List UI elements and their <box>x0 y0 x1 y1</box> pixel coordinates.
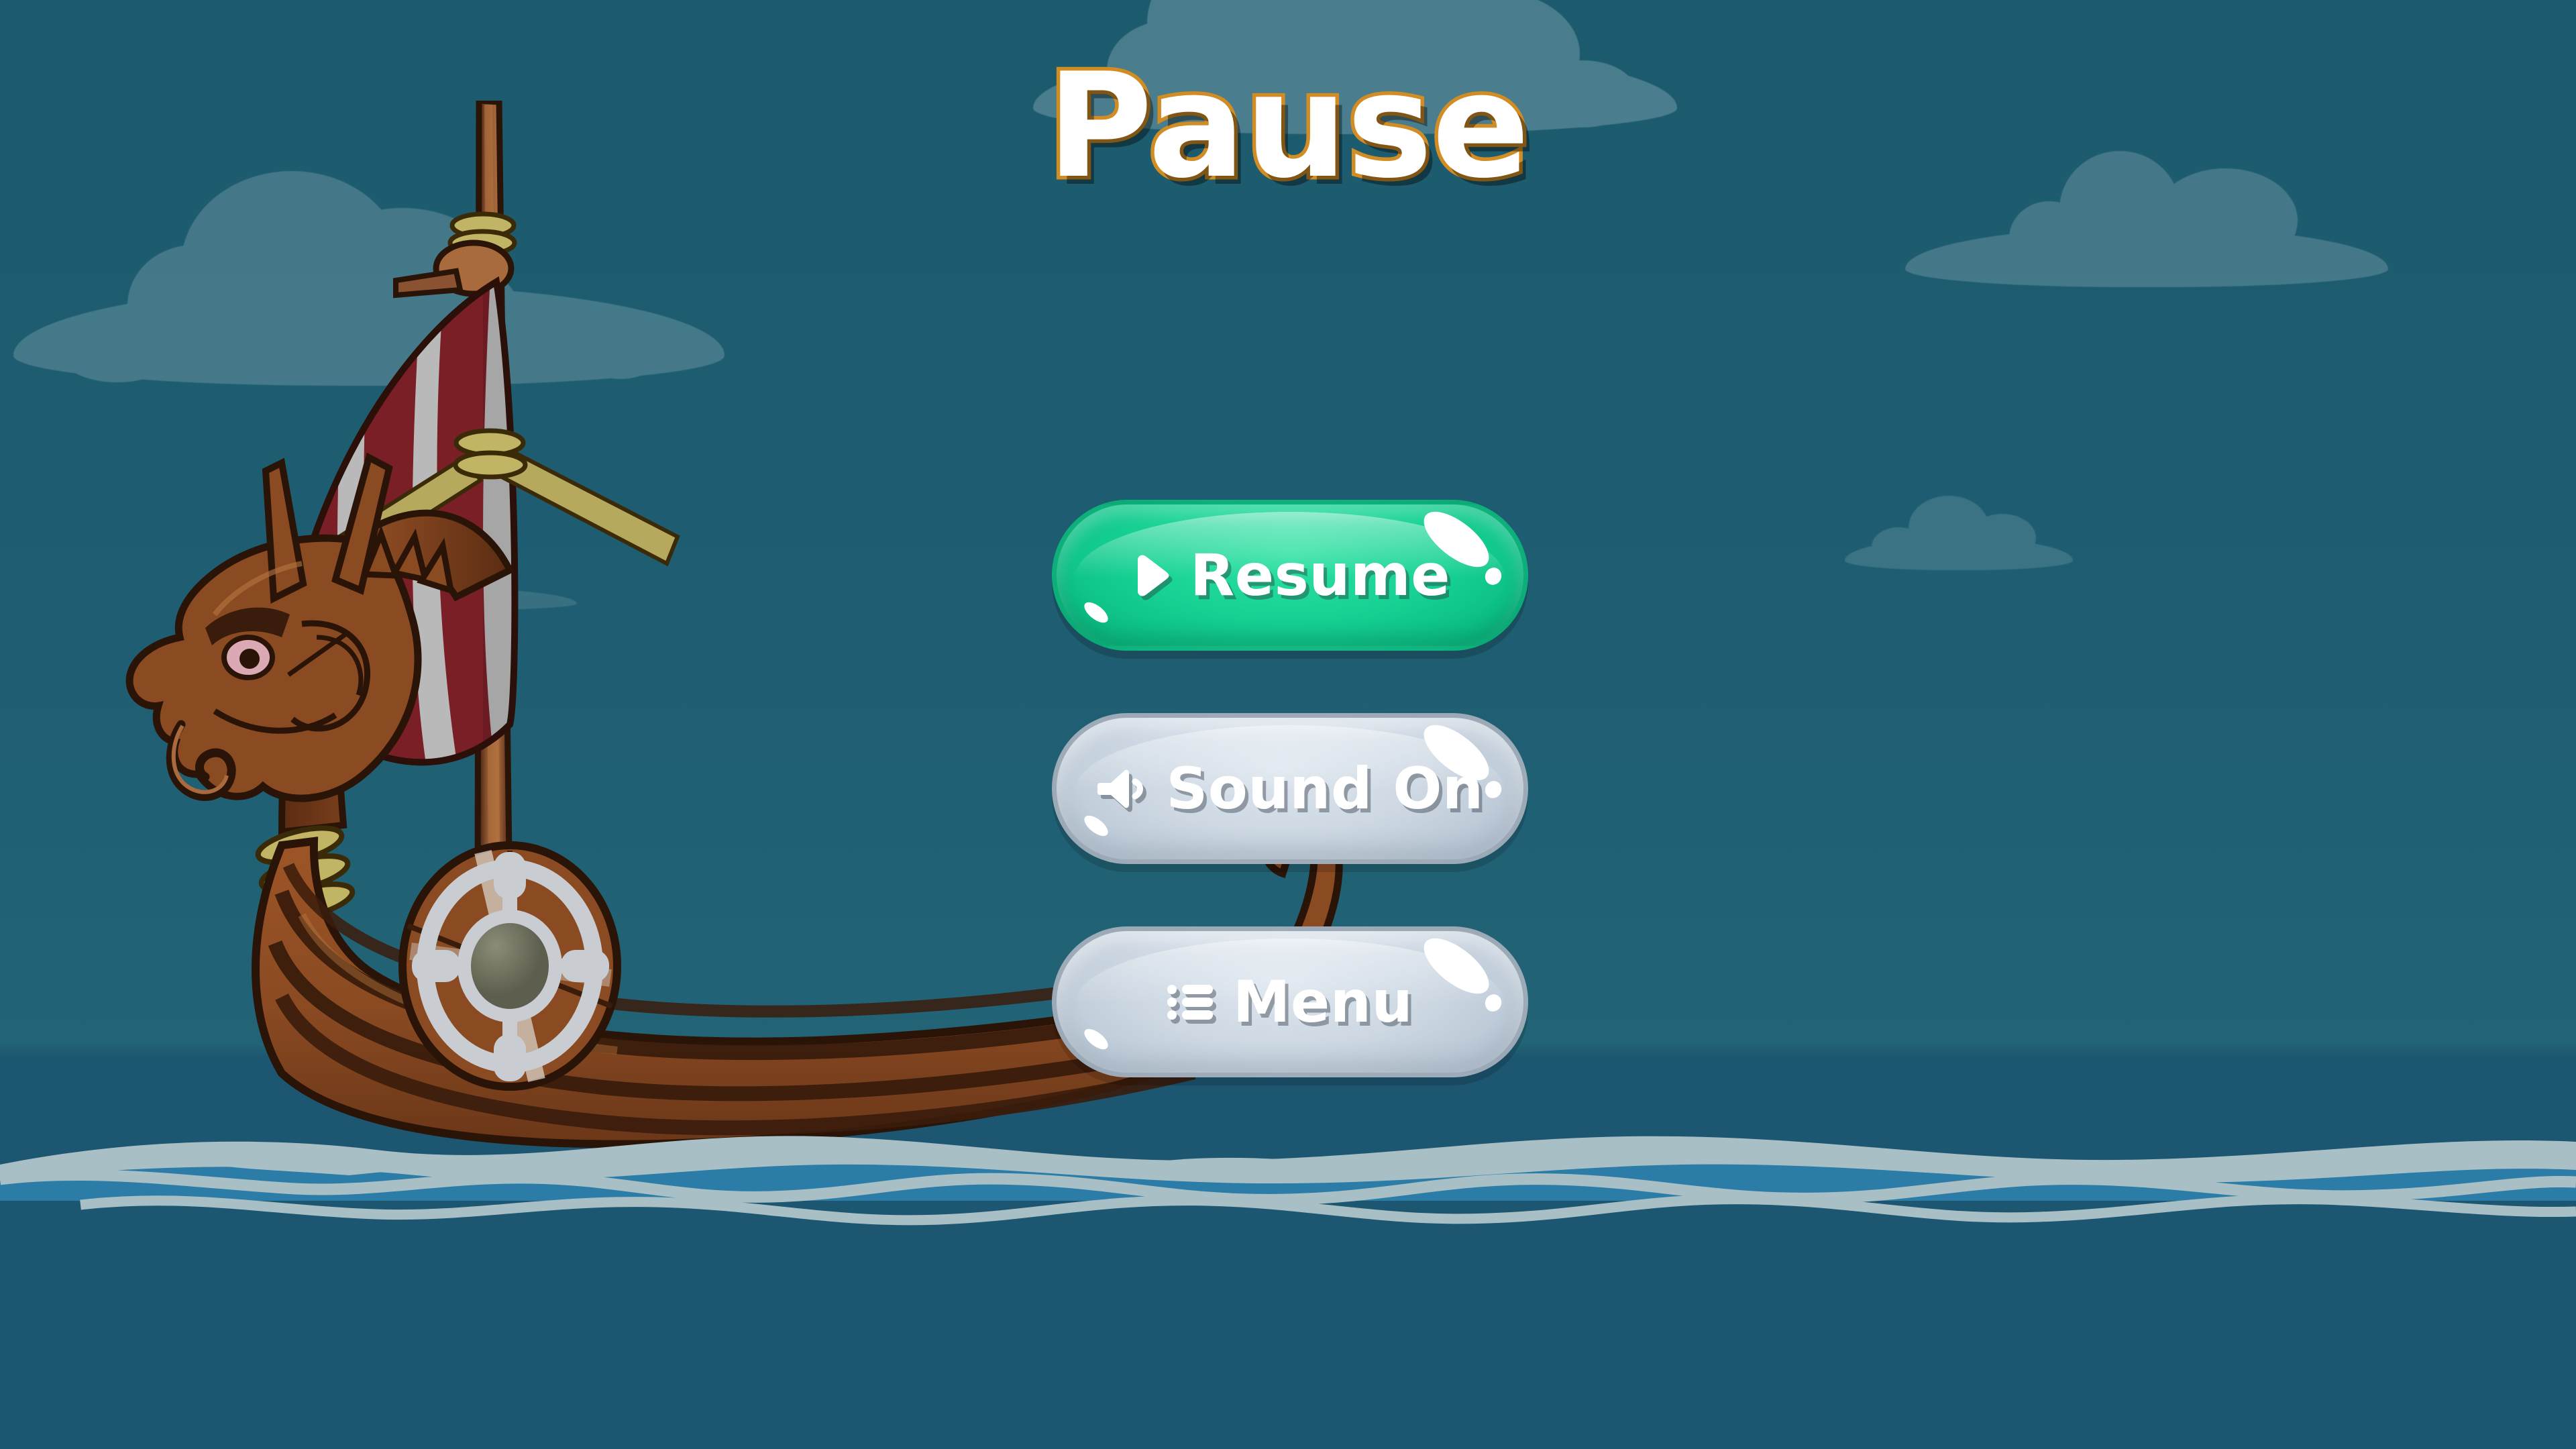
gloss-highlight-dot <box>1483 565 1505 588</box>
speaker-on-icon <box>1096 767 1147 811</box>
wave-foam-layer <box>0 1140 2576 1228</box>
pause-screen: Pause Resume Sound On <box>0 0 2576 1449</box>
sound-toggle-button[interactable]: Sound On <box>1052 713 1528 864</box>
gloss-highlight-small <box>1081 1025 1111 1053</box>
sound-toggle-label: Sound On <box>1166 755 1483 822</box>
sea-water <box>0 1114 2576 1449</box>
ship-spar-upper <box>396 271 460 295</box>
play-icon <box>1130 553 1171 598</box>
gloss-highlight-dot <box>1483 778 1505 801</box>
ship-shield <box>402 845 617 1087</box>
resume-button-label: Resume <box>1190 542 1450 609</box>
list-icon <box>1167 983 1214 1022</box>
resume-button[interactable]: Resume <box>1052 500 1528 651</box>
gloss-highlight-small <box>1081 812 1111 840</box>
mast-rope-mid <box>455 431 525 477</box>
menu-button[interactable]: Menu <box>1052 926 1528 1077</box>
gloss-highlight-large <box>1415 928 1497 1004</box>
pause-menu: Resume Sound On <box>1052 500 1528 1077</box>
menu-button-label: Menu <box>1233 969 1413 1036</box>
gloss-highlight-small <box>1081 598 1111 627</box>
cloud-right <box>1905 153 2388 287</box>
gloss-highlight-dot <box>1483 991 1505 1014</box>
cloud-mid-right <box>1845 496 2073 570</box>
